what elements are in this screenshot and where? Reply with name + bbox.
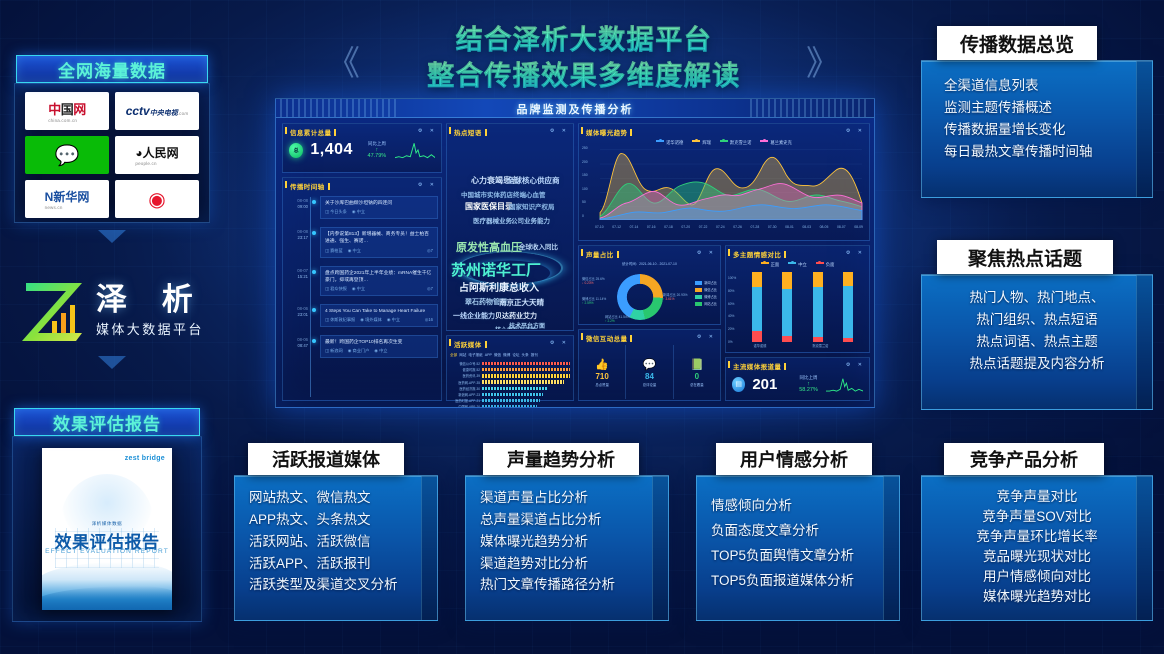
x-tick: 07-14	[630, 225, 639, 229]
list-item: 媒体曝光趋势分析	[480, 531, 668, 553]
y-tick: 0	[582, 214, 588, 218]
timeline-item[interactable]: 08-0623:014 Steps You Can Take to Manage…	[288, 304, 438, 327]
y-tick: 200	[582, 160, 588, 164]
list-item: TOP5负面舆情文章分析	[711, 544, 899, 569]
card-wechat-interaction: 微信互动总量 ⚙ ✕ 👍710总点赞量💬84总评论量📗0总在看量	[578, 329, 721, 401]
list-item: 热门文章传播路径分析	[480, 574, 668, 596]
total-sparkline-chart	[395, 141, 435, 159]
active-media-row-bar	[482, 374, 570, 377]
logo-tile-wechat: 💬	[25, 136, 109, 174]
wechat-metric-value: 710	[595, 372, 608, 381]
list-item: 全渠道信息列表	[944, 75, 1152, 97]
x-tick: 07-10	[595, 225, 604, 229]
active-media-row-label: 医药时报-APP-21	[450, 398, 480, 403]
active-media-tab[interactable]: 报刊	[531, 353, 538, 358]
sentiment-bar-segment	[752, 272, 762, 287]
brand-tagline: 媒体大数据平台	[96, 319, 205, 338]
timeline-item-date: 08-0809:00	[288, 196, 308, 219]
y-tick: 250	[582, 146, 588, 150]
active-media-row: 微信公众号-52	[450, 361, 570, 366]
card-volume-share: 声量占比 ⚙ ✕ 统计时间：2021-06-10 - 2021-07-10 微信…	[578, 245, 721, 325]
list-item: 渠道趋势对比分析	[480, 553, 668, 575]
active-media-row-label: 医药资讯-39	[450, 373, 480, 378]
active-media-tab[interactable]: APP	[485, 353, 492, 358]
exposure-trend-y-axis: 250200150100500	[582, 146, 588, 218]
sentiment-bar-segment	[843, 286, 853, 338]
share-note-weibo: 微博占比 11.14%↑ 2.59%	[582, 296, 606, 305]
active-media-row-label: 新浪网-APP-23	[450, 392, 480, 397]
sentiment-bar-segment	[752, 331, 762, 342]
legend-entry[interactable]: 微博占比	[695, 294, 717, 299]
x-tick: 默克雪兰诺	[812, 343, 828, 348]
sentiment-bar-segment	[813, 272, 823, 287]
x-tick: 07-20	[681, 225, 690, 229]
comment-icon: 💬	[643, 358, 657, 371]
left-report-panel: zest bridge 泽析媒体数据 效果评估报告 EFFECT EVALUAT…	[12, 436, 202, 622]
timeline-item-meta: ◫ 今日头条◉ 中立	[325, 209, 433, 215]
active-media-row-label: 健康时报-52	[450, 367, 480, 372]
timeline-dot	[312, 339, 316, 343]
left-data-logo-grid: 中国网china.com.cn cctv中央电视.com 💬 ◕人民网peopl…	[14, 83, 210, 223]
active-media-row: 新浪网-APP-23	[450, 392, 570, 397]
word-cloud-term[interactable]: 南京正大天晴	[499, 297, 544, 308]
logo-tile-cctv: cctv中央电视.com	[115, 92, 199, 130]
x-tick: 07-22	[699, 225, 708, 229]
sentiment-bar	[752, 272, 762, 342]
zest-bridge-logo: zest bridge	[125, 455, 165, 462]
wechat-metric-cell: 💬84总评论量	[626, 345, 673, 399]
list-item: 竞争声量对比	[922, 487, 1152, 507]
bottom-panel-competitor: 竞争声量对比竞争声量SOV对比竞争声量环比增长率竞品曝光现状对比用户情感倾向对比…	[921, 475, 1153, 621]
exposure-trend-legend: 诺华诺德辉瑞默克雪兰诺葛兰素史克	[579, 139, 869, 146]
timeline-list[interactable]: 08-0809:00关于沙库巴曲缬沙坦钠的四连问◫ 今日头条◉ 中立08-082…	[283, 193, 441, 397]
sentiment-x-axis: 诺华诺德默克雪兰诺	[742, 343, 863, 348]
wechat-metric-cell: 👍710总点赞量	[579, 345, 626, 399]
card-total-volume: 信息累计总量 ⚙ ✕ 总 1,404 同比上周 ↑ 47.79%	[282, 123, 442, 173]
sentiment-bar-segment	[813, 287, 823, 337]
card-mainstream-media: 主流媒体报道量 ⚙ ✕ ▤ 201 同比上周 ↑ 58.27%	[725, 357, 870, 401]
page-title-line-2: 整合传播效果多维度解读	[326, 58, 842, 94]
bottom-panel-side-tab	[883, 476, 899, 620]
card-tools-icon[interactable]: ⚙ ✕	[550, 340, 569, 346]
bottom-panel-title-competitor: 竞争产品分析	[944, 443, 1104, 475]
left-data-panel-title: 全网海量数据	[16, 55, 208, 83]
list-item: 竞争声量环比增长率	[922, 527, 1152, 547]
wechat-metric-grid: 👍710总点赞量💬84总评论量📗0总在看量	[579, 345, 720, 399]
logo-tile-weibo: ◉	[115, 180, 199, 218]
list-item: 监测主题传播概述	[944, 97, 1152, 119]
share-note-news: 新闻占比 20.93%↑ 3.61%	[663, 292, 687, 301]
x-tick: 诺华诺德	[754, 343, 767, 348]
book-icon: 📗	[690, 358, 704, 371]
card-tools-icon[interactable]: ⚙ ✕	[697, 250, 716, 256]
list-item: TOP5负面报道媒体分析	[711, 569, 899, 594]
timeline-item-title: 4 Steps You Can Take to Manage Heart Fai…	[325, 308, 433, 315]
card-sentiment-compare: 多主题情感对比 ⚙ ✕ 正面中立负面 100%80%60%40%20%0% 诺华…	[725, 245, 870, 353]
bottom-panel-side-tab	[421, 476, 437, 620]
logo-tile-xinhua-net: N新华网news.cn	[25, 180, 109, 218]
card-exposure-trend: 媒体曝光趋势 ⚙ ✕ 诺华诺德辉瑞默克雪兰诺葛兰素史克 250200150100…	[578, 123, 870, 241]
connector-arrow-down-2	[98, 356, 126, 369]
sentiment-legend: 正面中立负面	[726, 261, 869, 268]
y-tick: 40%	[728, 314, 736, 318]
mainstream-compare-value: ↑ 58.27%	[798, 381, 818, 393]
list-item: 用户情感倾向对比	[922, 567, 1152, 587]
timeline-item-date: 08-0715:21	[288, 266, 308, 296]
bottom-panel-title-volume-trend: 声量趋势分析	[483, 443, 639, 475]
sentiment-bar-segment	[843, 272, 853, 286]
right-panel-overview-list: 全渠道信息列表监测主题传播概述传播数据量增长变化每日最热文章传播时间轴	[944, 75, 1152, 162]
timeline-item-body[interactable]: 关于沙库巴曲缬沙坦钠的四连问◫ 今日头条◉ 中立	[320, 196, 438, 219]
sentiment-bar-segment	[813, 337, 823, 342]
active-media-row: 中国网-APP-20	[450, 404, 570, 408]
timeline-item[interactable]: 08-0823:17【内参说第813】新增器械、商务专员！益士柏百进通、强生、赛…	[288, 227, 438, 257]
bottom-panel-volume-trend-list: 渠道声量占比分析总声量渠道占比分析媒体曝光趋势分析渠道趋势对比分析热门文章传播路…	[480, 487, 668, 596]
list-item: 网站热文、微信热文	[249, 487, 437, 509]
timeline-item-title: 关于沙库巴曲缬沙坦钠的四连问	[325, 200, 433, 207]
timeline-item-body[interactable]: 4 Steps You Can Take to Manage Heart Fai…	[320, 304, 438, 327]
active-media-row-bar	[482, 393, 543, 396]
timeline-item[interactable]: 08-0809:00关于沙库巴曲缬沙坦钠的四连问◫ 今日头条◉ 中立	[288, 196, 438, 219]
right-panel-hot-topics-list: 热门人物、热门地点、热门组织、热点短语热点词语、热点主题热点话题提及内容分析	[922, 287, 1152, 374]
active-media-bars: 微信公众号-52健康时报-52医药资讯-39医药网-APP-35医药经济报-30…	[447, 360, 573, 408]
share-note-wechat: 微信占比 25.6%↓ 0.23%	[582, 276, 605, 285]
word-cloud-stage: 苏州诺华工厂原发性高血压占阿斯利康总收入国家医保目录心力衰竭患者全球核心供应商中…	[447, 139, 573, 329]
active-media-tab[interactable]: 电子报纸	[468, 353, 482, 358]
timeline-dot	[312, 308, 316, 312]
word-cloud-term[interactable]: 国家知识产权局	[509, 201, 555, 211]
active-media-row-label: 医药网-APP-35	[450, 380, 480, 385]
dashboard-title: 品牌监测及传播分析	[276, 101, 874, 117]
card-tools-icon[interactable]: ⚙ ✕	[846, 362, 865, 368]
word-cloud-term[interactable]: 医疗器械业务	[473, 215, 512, 225]
right-panel-hot-topics: 热门人物、热门地点、热门组织、热点短语热点词语、热点主题热点话题提及内容分析	[921, 274, 1153, 410]
y-tick: 100%	[728, 276, 736, 280]
card-tools-icon[interactable]: ⚙ ✕	[550, 128, 569, 134]
share-note-website: 网站占比 41.54%↑ 2.2%	[605, 314, 629, 323]
sentiment-bar-segment	[843, 338, 853, 342]
card-tools-icon[interactable]: ⚙ ✕	[846, 250, 865, 256]
list-item: 竞争声量SOV对比	[922, 507, 1152, 527]
bottom-panel-volume-trend: 渠道声量占比分析总声量渠道占比分析媒体曝光趋势分析渠道趋势对比分析热门文章传播路…	[465, 475, 669, 621]
word-cloud-term[interactable]: 全球核心供应商	[507, 175, 560, 186]
page-title: 结合泽析大数据平台 整合传播效果多维度解读	[326, 22, 842, 94]
timeline-dot	[312, 231, 316, 235]
list-item: 热门组织、热点短语	[922, 309, 1152, 331]
timeline-item-date: 08-0823:17	[288, 227, 308, 257]
active-media-tab[interactable]: 网站	[459, 353, 466, 358]
timeline-item-title: 最新！跨国药企TOP10排名再次生变	[325, 339, 433, 346]
active-media-row-label: 中国网-APP-20	[450, 404, 480, 408]
timeline-item-title: 【内参说第813】新增器械、商务专员！益士柏百进通、强生、赛诺…	[325, 231, 433, 245]
list-item: 热点词语、热点主题	[922, 331, 1152, 353]
word-cloud-term[interactable]: 国家医保目录	[465, 201, 513, 212]
card-active-media: 活跃媒体 ⚙ ✕ 全部网站电子报纸APP微信微博论坛头条报刊 微信公众号-52健…	[446, 335, 574, 401]
bottom-panel-side-tab	[1136, 476, 1152, 620]
active-media-row-bar	[482, 387, 547, 390]
timeline-dot	[312, 270, 316, 274]
dashboard-preview: 品牌监测及传播分析 信息累计总量 ⚙ ✕ 总 1,404 同比上周 ↑ 47.7…	[275, 98, 875, 408]
list-item: 活跃APP、活跃报刊	[249, 553, 437, 575]
list-item: 每日最热文章传播时间轴	[944, 141, 1152, 163]
exposure-trend-x-axis: 07-1007-1207-1407-1607-1807-2007-2207-24…	[579, 225, 869, 229]
thumbs-up-icon: 👍	[595, 358, 609, 371]
y-tick: 150	[582, 173, 588, 177]
z-logo-icon	[18, 277, 90, 345]
active-media-row: 医药资讯-39	[450, 373, 570, 378]
legend-entry[interactable]: 新闻占比	[695, 280, 717, 285]
right-panel-overview: 全渠道信息列表监测主题传播概述传播数据量增长变化每日最热文章传播时间轴	[921, 60, 1153, 198]
sentiment-y-axis: 100%80%60%40%20%0%	[728, 276, 736, 344]
sentiment-bars	[742, 272, 863, 342]
list-item: 总声量渠道占比分析	[480, 509, 668, 531]
y-tick: 60%	[728, 302, 736, 306]
timeline-dot	[312, 200, 316, 204]
list-item: 传播数据量增长变化	[944, 119, 1152, 141]
active-media-row-bar	[482, 362, 570, 365]
card-tools-icon[interactable]: ⚙ ✕	[846, 128, 865, 134]
active-media-row: 健康时报-52	[450, 367, 570, 372]
x-tick: 08-03	[802, 225, 811, 229]
word-cloud-term[interactable]: 一线企业能力	[453, 311, 495, 321]
total-compare-value: ↑ 47.79%	[366, 147, 388, 159]
sentiment-bar-segment	[782, 289, 792, 337]
sentiment-bar	[782, 272, 792, 342]
timeline-item-date: 08-0608:47	[288, 335, 308, 358]
active-media-row: 医药网-APP-35	[450, 380, 570, 385]
active-media-tab[interactable]: 头条	[522, 353, 529, 358]
card-exposure-trend-header: 媒体曝光趋势	[579, 124, 869, 139]
page-title-line-1: 结合泽析大数据平台	[326, 22, 842, 58]
active-media-row: 医药时报-APP-21	[450, 398, 570, 403]
timeline-item-date: 08-0623:01	[288, 304, 308, 327]
x-tick: 07-24	[716, 225, 725, 229]
x-tick: 08-09	[854, 225, 863, 229]
mainstream-media-value: 201	[752, 376, 777, 393]
active-media-row-bar	[482, 380, 564, 383]
report-cover-subtitle: 泽析媒体数据	[42, 521, 172, 527]
y-tick: 50	[582, 200, 588, 204]
bottom-panel-side-tab	[652, 476, 668, 620]
bottom-panel-active-media-list: 网站热文、微信热文APP热文、头条热文活跃网站、活跃微信活跃APP、活跃报刊活跃…	[249, 487, 437, 596]
word-cloud-term[interactable]: 全球收入同比	[519, 241, 558, 251]
x-tick: 07-16	[647, 225, 656, 229]
legend-entry[interactable]: 微信占比	[695, 287, 717, 292]
active-media-row-label: 医药经济报-30	[450, 386, 480, 391]
timeline-item-meta: ◫ 君众快报◉ 中立◎7	[325, 286, 433, 292]
list-item: 活跃类型及渠道交叉分析	[249, 574, 437, 596]
connector-arrow-down-1	[98, 230, 126, 243]
timeline-item-meta: ◫ 赛柏蓝◉ 中立◎7	[325, 248, 433, 254]
x-tick: 07-26	[733, 225, 742, 229]
list-item: 竞品曝光现状对比	[922, 547, 1152, 567]
timeline-item-body[interactable]: 最新！跨国药企TOP10排名再次生变◫ 新浪网◉ 商业门户◉ 中立	[320, 335, 438, 358]
volume-share-legend: 新闻占比微信占比微博占比网站占比	[695, 280, 717, 308]
active-media-tabs[interactable]: 全部网站电子报纸APP微信微博论坛头条报刊	[447, 351, 573, 360]
list-item: 活跃网站、活跃微信	[249, 531, 437, 553]
wechat-metric-label: 总在看量	[690, 382, 704, 387]
word-cloud-term[interactable]: 苏州诺华工厂	[451, 259, 541, 280]
y-tick: 20%	[728, 327, 736, 331]
bottom-panel-active-media: 网站热文、微信热文APP热文、头条热文活跃网站、活跃微信活跃APP、活跃报刊活跃…	[234, 475, 438, 621]
legend-entry[interactable]: 网站占比	[695, 301, 717, 306]
sentiment-bar	[813, 272, 823, 342]
x-tick: 07-18	[664, 225, 673, 229]
list-item: 情感倾向分析	[711, 494, 899, 519]
list-item: 媒体曝光趋势对比	[922, 587, 1152, 607]
report-cover-title-en: EFFECT EVALUATION REPORT	[42, 548, 172, 555]
right-panel-side-tab	[1136, 275, 1152, 409]
active-media-row-bar	[482, 399, 540, 402]
right-panel-side-tab	[1136, 61, 1152, 197]
list-item: 负面态度文章分析	[711, 519, 899, 544]
list-item: 热点话题提及内容分析	[922, 353, 1152, 375]
wechat-metric-value: 0	[695, 372, 699, 381]
timeline-item[interactable]: 08-0715:21盘点跨国药企2021年上半年业绩：mRNA催生千亿豪门，抑或…	[288, 266, 438, 296]
list-item: 渠道声量占比分析	[480, 487, 668, 509]
mainstream-sparkline-chart	[826, 375, 863, 393]
word-cloud-term[interactable]: 技术平台方面	[509, 321, 545, 329]
wechat-metric-cell: 📗0总在看量	[674, 345, 720, 399]
x-tick: 07-12	[612, 225, 621, 229]
x-tick: 07-30	[768, 225, 777, 229]
y-tick: 80%	[728, 289, 736, 293]
sentiment-bar-segment	[782, 272, 792, 289]
timeline-item[interactable]: 08-0608:47最新！跨国药企TOP10排名再次生变◫ 新浪网◉ 商业门户◉…	[288, 335, 438, 358]
timeline-item-body[interactable]: 盘点跨国药企2021年上半年业绩：mRNA催生千亿豪门，抑或再登顶…◫ 君众快报…	[320, 266, 438, 296]
left-report-panel-title: 效果评估报告	[14, 408, 200, 436]
active-media-tab[interactable]: 微信	[494, 353, 501, 358]
card-tools-icon[interactable]: ⚙ ✕	[697, 334, 716, 340]
timeline-item-meta: ◫ 新浪网◉ 商业门户◉ 中立	[325, 348, 433, 354]
brand-logo: 泽 析 媒体大数据平台	[18, 272, 238, 350]
timeline-item-meta: ◫ 休斯敦纪事报◉ 境外媒体◉ 中立◎16	[325, 317, 433, 323]
active-media-row-bar	[482, 368, 570, 371]
word-cloud-term[interactable]: 贝达药业艾力	[495, 311, 537, 321]
wechat-metric-value: 84	[645, 372, 654, 381]
y-tick: 100	[582, 187, 588, 191]
active-media-tab[interactable]: 论坛	[512, 353, 519, 358]
word-cloud-term[interactable]: 原发性高血压	[456, 239, 522, 255]
bottom-panel-competitor-list: 竞争声量对比竞争声量SOV对比竞争声量环比增长率竞品曝光现状对比用户情感倾向对比…	[922, 487, 1152, 607]
timeline-item-title: 盘点跨国药企2021年上半年业绩：mRNA催生千亿豪门，抑或再登顶…	[325, 270, 433, 284]
right-panel-title-hot-topics: 聚焦热点话题	[937, 240, 1113, 274]
timeline-item-body[interactable]: 【内参说第813】新增器械、商务专员！益士柏百进通、强生、赛诺…◫ 赛柏蓝◉ 中…	[320, 227, 438, 257]
x-tick: 08-01	[785, 225, 794, 229]
active-media-tab[interactable]: 全部	[450, 353, 457, 358]
active-media-row: 医药经济报-30	[450, 386, 570, 391]
active-media-row-bar	[482, 405, 537, 408]
word-cloud-term[interactable]: 中国城市实体药店终端心血管	[461, 189, 546, 199]
mainstream-media-icon: ▤	[732, 377, 745, 392]
bottom-panel-title-user-sentiment: 用户情感分析	[716, 443, 872, 475]
sentiment-bar-segment	[752, 287, 762, 331]
bottom-panel-user-sentiment-list: 情感倾向分析负面态度文章分析TOP5负面舆情文章分析TOP5负面报道媒体分析	[711, 494, 899, 594]
y-tick: 0%	[728, 340, 736, 344]
wechat-metric-label: 总点赞量	[595, 382, 609, 387]
x-tick: 08-07	[837, 225, 846, 229]
dashboard-topbar: 品牌监测及传播分析	[276, 99, 874, 118]
logo-tile-people-cn: ◕人民网people.cn	[115, 136, 199, 174]
sentiment-bar-segment	[782, 336, 792, 342]
right-panel-title-overview: 传播数据总览	[937, 26, 1097, 60]
card-word-cloud: 热点短语 ⚙ ✕ 苏州诺华工厂原发性高血压占阿斯利康总收入国家医保目录心力衰竭患…	[446, 123, 574, 331]
logo-tile-china-net: 中国网china.com.cn	[25, 92, 109, 130]
word-cloud-term[interactable]: 占阿斯利康总收入	[459, 279, 539, 294]
bottom-panel-title-active-media: 活跃报道媒体	[248, 443, 404, 475]
wechat-metric-label: 总评论量	[643, 382, 657, 387]
x-tick: 07-28	[751, 225, 760, 229]
list-item: 热门人物、热门地点、	[922, 287, 1152, 309]
brand-name: 泽 析	[96, 284, 205, 317]
bottom-panel-user-sentiment: 情感倾向分析负面态度文章分析TOP5负面舆情文章分析TOP5负面报道媒体分析	[696, 475, 900, 621]
report-cover-image: zest bridge 泽析媒体数据 效果评估报告 EFFECT EVALUAT…	[42, 448, 172, 610]
card-tools-icon[interactable]: ⚙ ✕	[418, 128, 437, 134]
sentiment-bar	[843, 272, 853, 342]
card-tools-icon[interactable]: ⚙ ✕	[418, 182, 437, 188]
card-timeline: 传播时间轴 ⚙ ✕ 08-0809:00关于沙库巴曲缬沙坦钠的四连问◫ 今日头条…	[282, 177, 442, 401]
total-volume-value: 1,404	[310, 141, 353, 159]
total-badge-icon: 总	[289, 143, 303, 158]
list-item: APP热文、头条热文	[249, 509, 437, 531]
exposure-trend-chart	[593, 146, 869, 220]
x-tick: 08-05	[820, 225, 829, 229]
active-media-tab[interactable]: 微博	[503, 353, 510, 358]
active-media-row-label: 微信公众号-52	[450, 361, 480, 366]
word-cloud-term[interactable]: 公司业务能力	[511, 215, 550, 225]
